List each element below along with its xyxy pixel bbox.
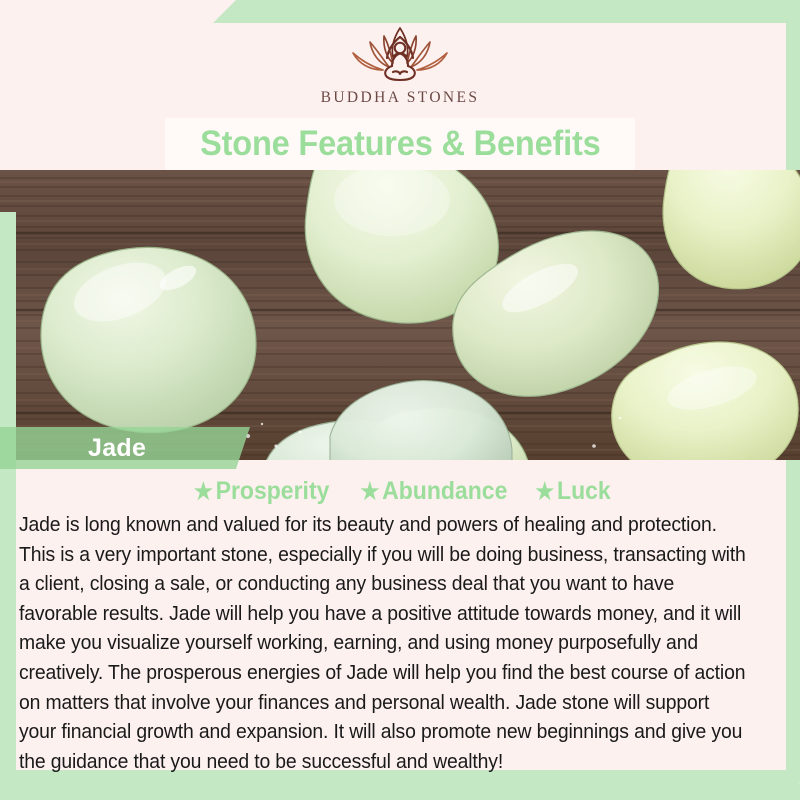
keyword-item-prosperity: ★Prosperity <box>194 477 330 506</box>
section-title-banner: Stone Features & Benefits <box>165 118 635 170</box>
stone-name-band: Jade <box>0 427 250 469</box>
star-icon: ★ <box>535 478 554 504</box>
card-header: BUDDHA STONES <box>0 0 800 120</box>
page-title: Stone Features & Benefits <box>200 124 601 164</box>
jade-stones-illustration <box>0 170 800 460</box>
stone-name-label: Jade <box>88 434 146 463</box>
star-icon: ★ <box>194 478 213 504</box>
stone-info-card: BUDDHA STONES <box>0 0 800 800</box>
keyword-item-luck: ★Luck <box>535 477 610 506</box>
keyword-item-abundance: ★Abundance <box>360 477 507 506</box>
lotus-meditation-icon <box>337 22 463 84</box>
description-text: Jade is long known and valued for its be… <box>19 511 751 777</box>
keyword-label: Luck <box>557 477 611 505</box>
keyword-label: Abundance <box>382 477 507 505</box>
keyword-list: ★Prosperity ★Abundance ★Luck <box>16 477 786 506</box>
hero-photo-jade-stones <box>0 170 800 460</box>
keyword-label: Prosperity <box>216 477 330 505</box>
brand-name: BUDDHA STONES <box>321 89 480 107</box>
decorative-left-band <box>0 212 16 788</box>
star-icon: ★ <box>360 478 379 504</box>
brand-logo: BUDDHA STONES <box>0 22 800 107</box>
content-panel: ★Prosperity ★Abundance ★Luck Jade is lon… <box>16 469 786 770</box>
